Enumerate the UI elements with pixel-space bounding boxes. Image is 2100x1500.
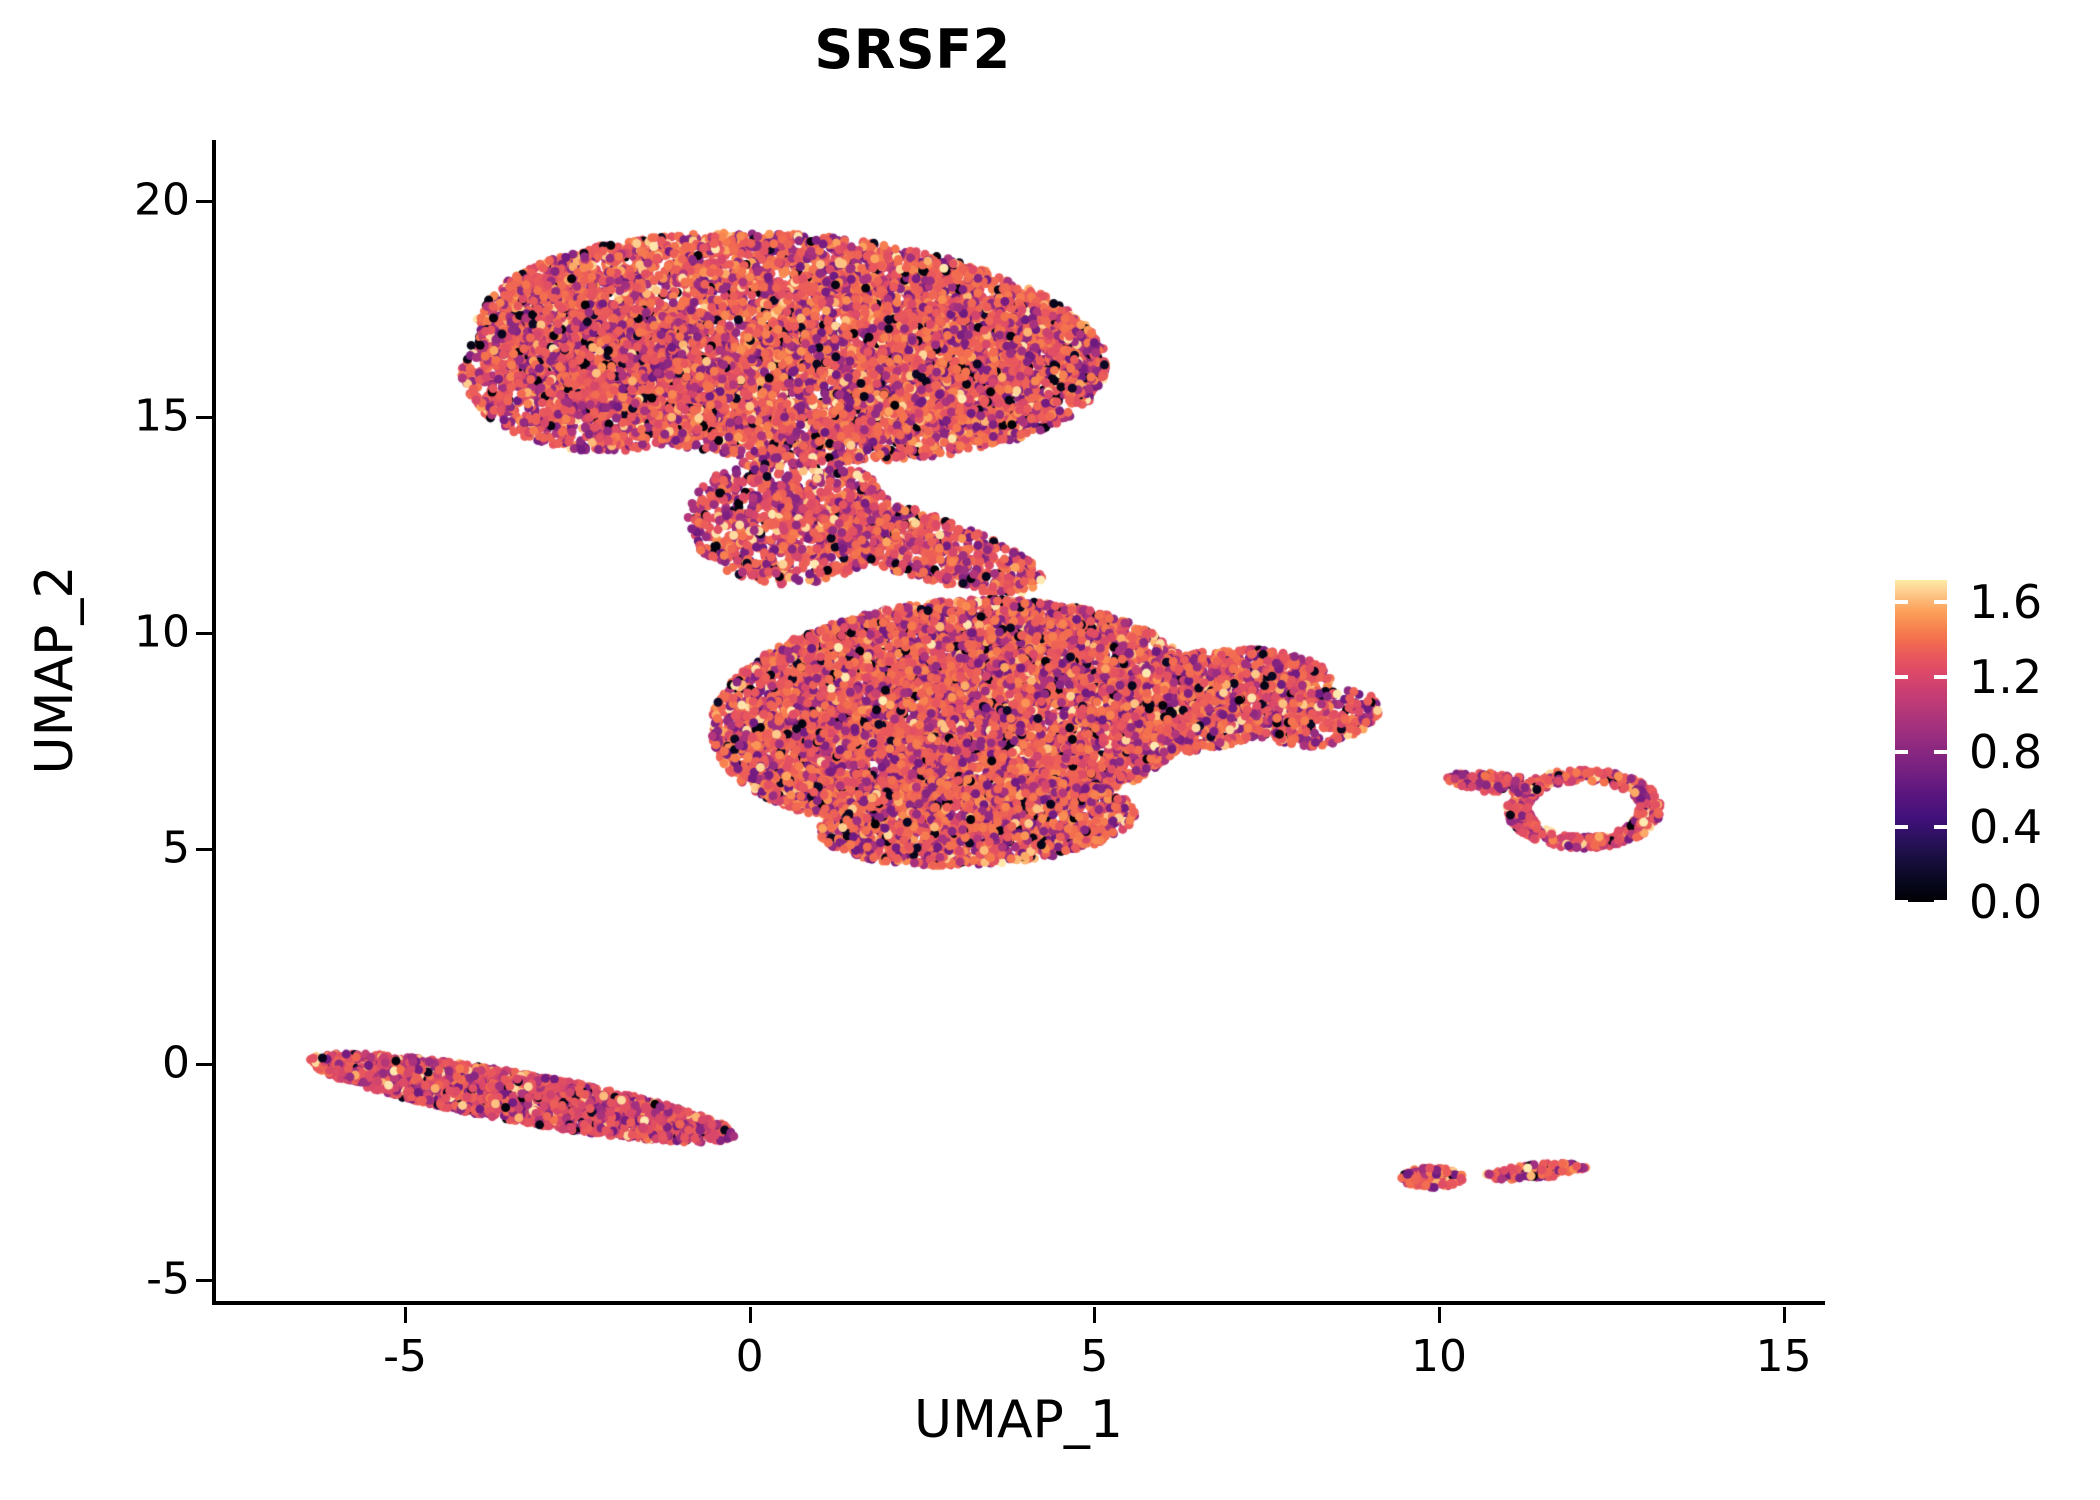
- colorbar-tick-label: 0.0: [1969, 875, 2042, 929]
- y-tick-mark: [196, 1279, 212, 1282]
- colorbar-tick-mark: [1895, 750, 1908, 754]
- y-tick-mark: [196, 200, 212, 203]
- y-tick-label: -5: [146, 1254, 190, 1305]
- x-tick-mark: [404, 1307, 407, 1323]
- y-tick-mark: [196, 1063, 212, 1066]
- colorbar-tick-mark: [1934, 900, 1947, 904]
- x-tick-label: 5: [1080, 1331, 1108, 1382]
- y-tick-label: 0: [162, 1038, 190, 1089]
- colorbar-tick-label: 1.6: [1969, 575, 2042, 629]
- colorbar-tick-mark: [1895, 900, 1908, 904]
- x-tick-mark: [1093, 1307, 1096, 1323]
- colorbar-tick-mark: [1934, 825, 1947, 829]
- colorbar-tick-label: 1.2: [1969, 650, 2042, 704]
- y-axis-spine: [212, 140, 216, 1305]
- colorbar: 0.00.40.81.21.6: [1895, 580, 2085, 902]
- x-tick-label: 15: [1756, 1331, 1812, 1382]
- page-title: SRSF2: [0, 18, 1825, 81]
- scatter-points-canvas: [212, 140, 1825, 1305]
- colorbar-tick-mark: [1934, 675, 1947, 679]
- plot-axes: -505101520 -5051015: [212, 140, 1825, 1305]
- x-tick-label: -5: [383, 1331, 427, 1382]
- colorbar-tick-mark: [1895, 600, 1908, 604]
- umap-feature-plot: SRSF2 -505101520 -5051015 UMAP_1 UMAP_2 …: [0, 0, 2100, 1500]
- y-tick-label: 20: [134, 175, 190, 226]
- y-axis-label: UMAP_2: [25, 360, 85, 980]
- x-axis-label: UMAP_1: [212, 1390, 1825, 1450]
- x-tick-mark: [1438, 1307, 1441, 1323]
- x-axis-spine: [212, 1301, 1825, 1305]
- x-tick-mark: [749, 1307, 752, 1323]
- x-tick-label: 0: [736, 1331, 764, 1382]
- colorbar-tick-mark: [1895, 825, 1908, 829]
- colorbar-tick-mark: [1895, 675, 1908, 679]
- colorbar-tick-mark: [1934, 600, 1947, 604]
- y-tick-label: 5: [162, 822, 190, 873]
- x-tick-label: 10: [1411, 1331, 1467, 1382]
- y-tick-mark: [196, 632, 212, 635]
- colorbar-tick-label: 0.4: [1969, 800, 2042, 854]
- colorbar-gradient: [1895, 580, 1947, 902]
- y-tick-label: 10: [134, 606, 190, 657]
- y-tick-mark: [196, 416, 212, 419]
- x-tick-mark: [1783, 1307, 1786, 1323]
- y-tick-mark: [196, 848, 212, 851]
- colorbar-tick-mark: [1934, 750, 1947, 754]
- colorbar-tick-label: 0.8: [1969, 725, 2042, 779]
- y-tick-label: 15: [134, 391, 190, 442]
